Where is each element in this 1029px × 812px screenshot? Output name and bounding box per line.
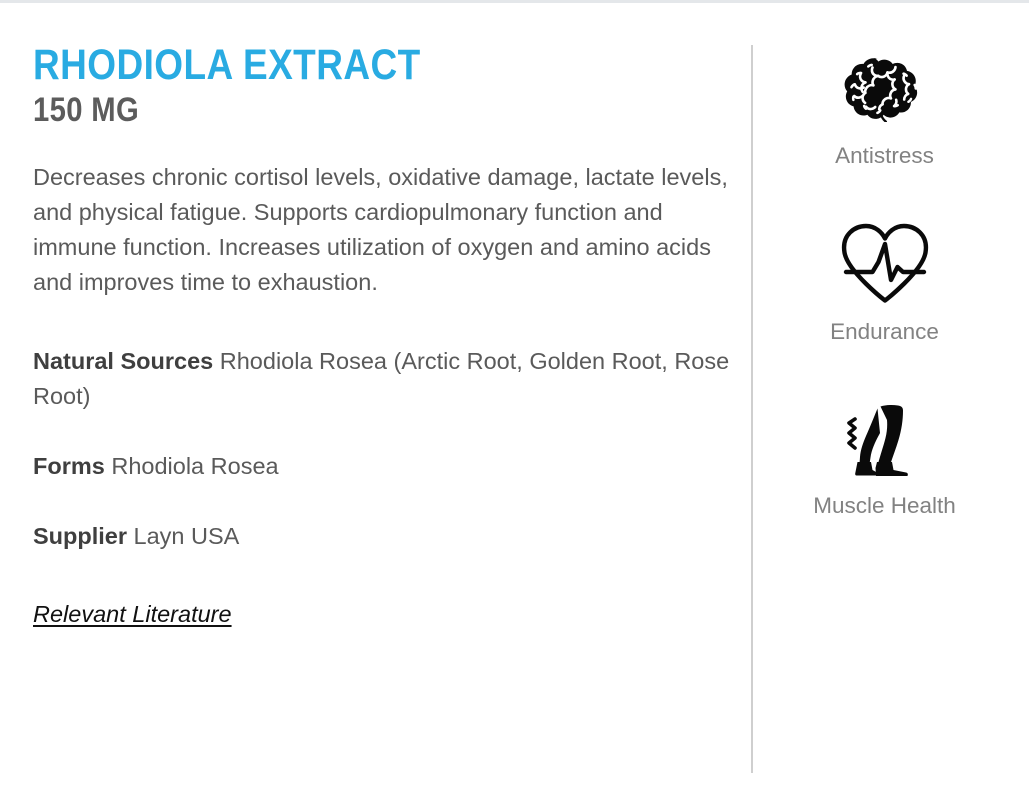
fact-forms: Forms Rhodiola Rosea (33, 449, 733, 484)
benefit-label-muscle-health: Muscle Health (772, 491, 997, 521)
benefit-endurance: Endurance (772, 217, 997, 347)
fact-natural-sources: Natural Sources Rhodiola Rosea (Arctic R… (33, 344, 733, 414)
ingredient-details: RHODIOLA EXTRACT 150 MG Decreases chroni… (33, 43, 733, 630)
benefit-antistress: Antistress (772, 47, 997, 171)
fact-value-forms: Rhodiola Rosea (111, 453, 278, 479)
ingredient-card: RHODIOLA EXTRACT 150 MG Decreases chroni… (0, 0, 1029, 812)
benefits-list: Antistress Endurance (772, 47, 997, 521)
benefit-muscle-health: Muscle Health (772, 395, 997, 521)
fact-label-natural-sources: Natural Sources (33, 348, 213, 374)
brain-icon (772, 47, 997, 133)
fact-label-supplier: Supplier (33, 523, 127, 549)
heart-pulse-icon (772, 217, 997, 309)
fact-value-supplier: Layn USA (134, 523, 240, 549)
fact-label-forms: Forms (33, 453, 105, 479)
relevant-literature-link[interactable]: Relevant Literature (33, 598, 232, 630)
dosage-amount: 150 MG (33, 92, 635, 129)
ingredient-description: Decreases chronic cortisol levels, oxida… (33, 160, 733, 300)
vertical-divider (751, 45, 753, 773)
leg-muscle-icon (772, 395, 997, 483)
fact-supplier: Supplier Layn USA (33, 519, 733, 554)
benefit-label-endurance: Endurance (772, 317, 997, 347)
benefit-label-antistress: Antistress (772, 141, 997, 171)
page-title: RHODIOLA EXTRACT (33, 43, 635, 88)
